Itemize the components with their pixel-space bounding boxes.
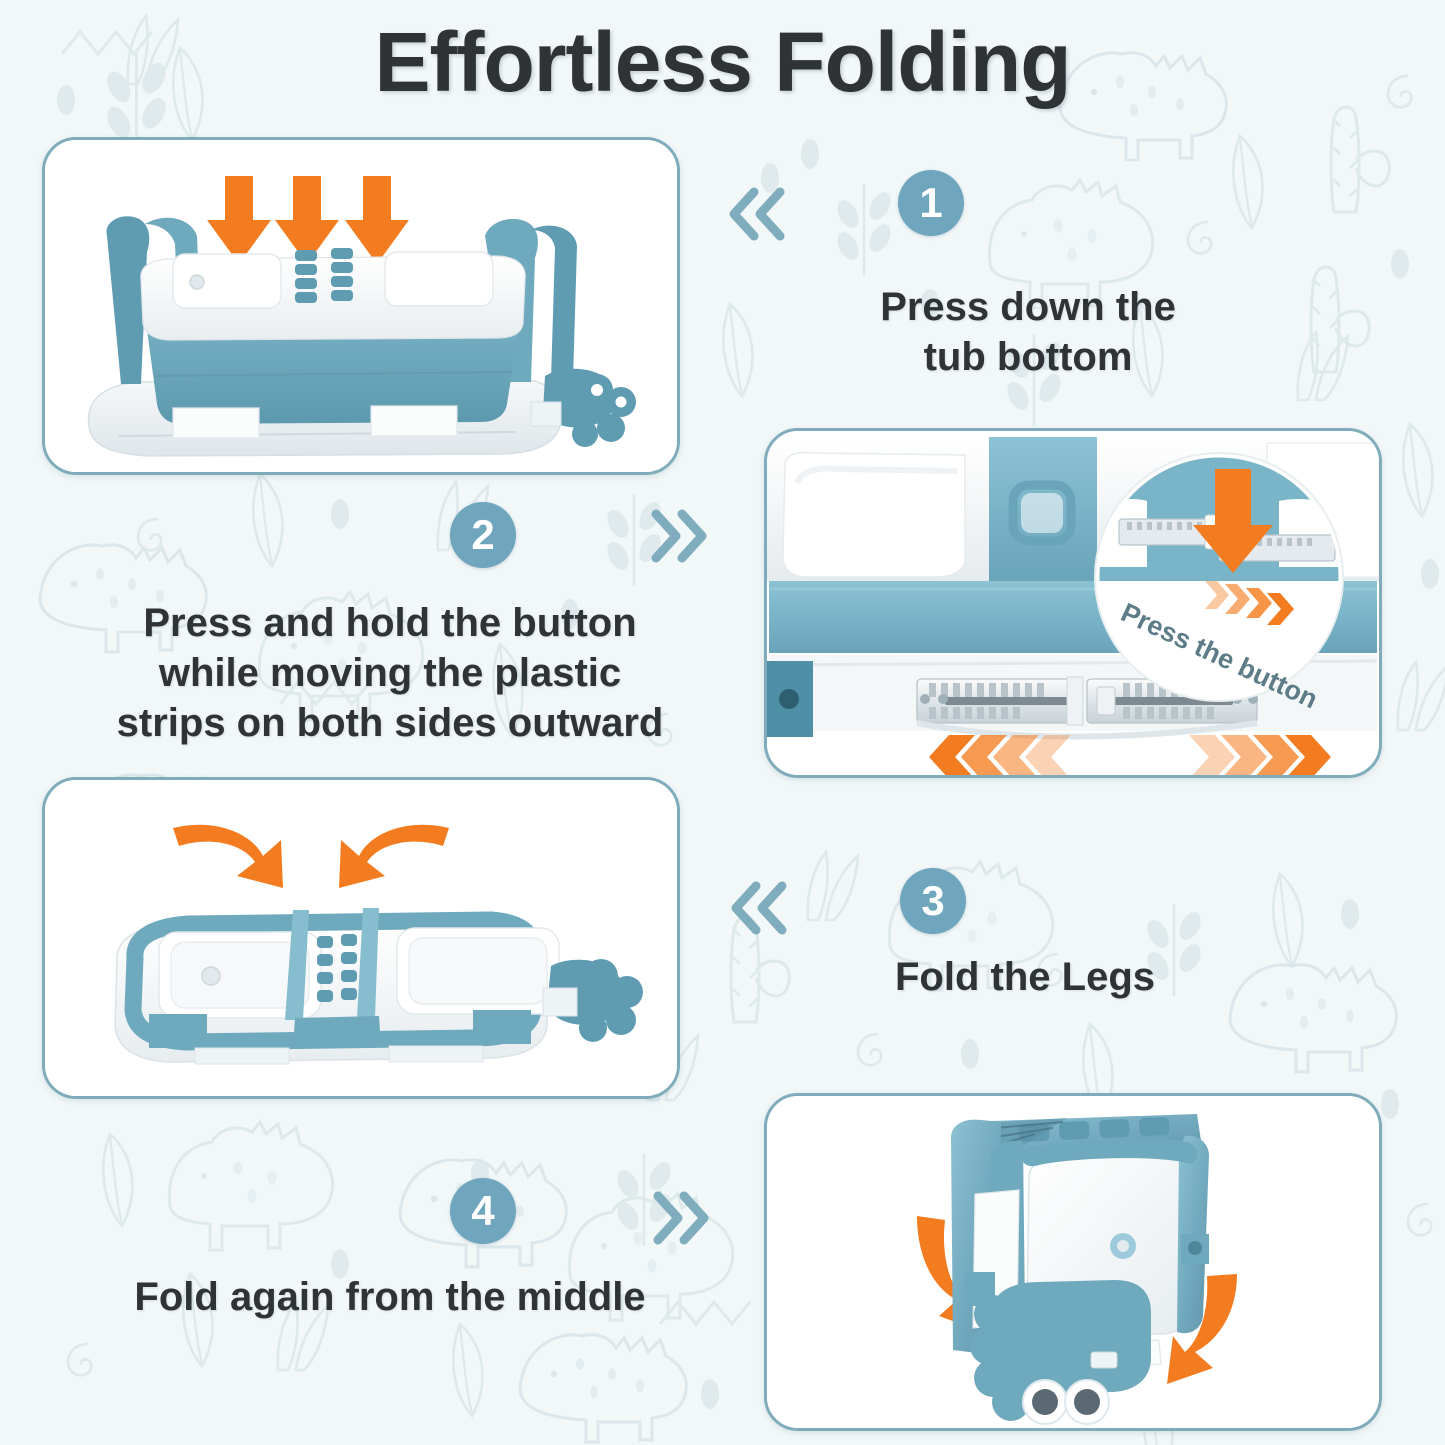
step-3-line-1: Fold the Legs [710,952,1340,1003]
step-1-line-2: tub bottom [728,332,1328,383]
step-3-badge: 3 [900,868,966,934]
step-4-badge: 4 [450,1178,516,1244]
step-1-badge: 1 [898,170,964,236]
step-2-chevron-right-icon [646,508,708,564]
folded-tub-top-view-photo [45,140,677,472]
photo-panel-step-4 [764,1093,1382,1431]
flattened-tub-photo [45,780,677,1096]
photo-panel-step-3 [42,777,680,1099]
page-title: Effortless Folding [0,14,1445,111]
step-3-chevron-left-icon [728,880,790,936]
step-2-line-1: Press and hold the button [40,598,740,649]
step-4-chevron-right-icon [648,1190,710,1246]
fully-folded-tub-photo [767,1096,1379,1428]
slide-rail-left [917,679,1077,723]
step-1-chevron-left-icon [726,186,788,242]
photo-panel-step-2: Press the button [764,428,1382,778]
step-2-line-2: while moving the plastic [40,648,740,699]
tub-rail-closeup-photo: Press the button [767,431,1379,775]
step-1-line-1: Press down the [728,282,1328,333]
step-2-line-3: strips on both sides outward [40,698,740,749]
step-4-line-1: Fold again from the middle [40,1272,740,1323]
step-2-badge: 2 [450,502,516,568]
photo-panel-step-1 [42,137,680,475]
infographic-stage: Effortless Folding [0,0,1445,1445]
